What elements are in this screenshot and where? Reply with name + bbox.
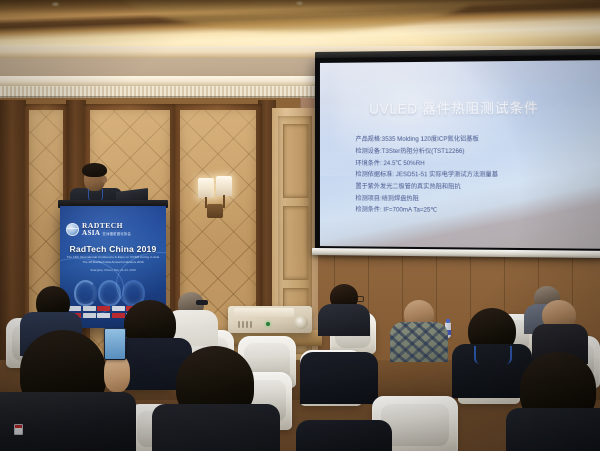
speaker-ear [102,176,107,183]
podium-event-dates: Shanghai, China | May 21-24, 2019 [60,268,166,272]
slide-body-line: 产品规格:3535 Molding 120度ICP氮化铝基板 [355,134,585,146]
sponsor-logo [97,306,110,311]
podium-mark-ring [98,280,121,306]
podium-event-subtitle-1: The 13th International Conference & Expo… [60,255,166,259]
projector-top-plate [234,308,294,317]
audience-lanyard [474,346,512,364]
projector-vent [250,321,252,328]
screen-black-border: UVLED 器件热阻测试条件 产品规格:3535 Molding 120度ICP… [315,55,600,254]
projector-vent [242,321,244,328]
audience-torso [390,322,448,362]
slide-body-line: 环境条件: 24.5℃ 50%RH [355,158,585,170]
ceiling-downlight [296,1,303,5]
sconce-backplate [207,204,223,218]
eyeglasses [352,296,364,302]
sunglasses-icon [196,300,208,305]
sponsor-logo [83,313,96,318]
slide-body-line: 置于紫外发光二极管的真实热阻和阻抗 [355,181,585,194]
mobile-phone[interactable] [104,328,126,360]
door-panel-upper [283,124,309,198]
slide-title: UVLED 器件热阻测试条件 [369,96,538,117]
podium-event-title: RadTech China 2019 [60,244,166,254]
screen-weight-bar [312,248,600,258]
sponsor-logo [112,313,125,318]
door-panel-mid [283,206,309,280]
podium-mark-ring [74,280,97,306]
projector-vent [246,321,248,328]
ceiling [0,0,600,52]
projector-lens [294,316,308,329]
audience-torso-foreground [296,420,392,451]
slide-body: 产品规格:3535 Molding 120度ICP氮化铝基板 检测设备:T3St… [355,134,585,218]
slide-body-line: 检测条件: IF=700mA Ta=25℃ [355,205,585,218]
projector-power-led [266,322,270,326]
conference-hall-photo: UVLED 器件热阻测试条件 产品规格:3535 Molding 120度ICP… [0,0,600,451]
logo-asia-chinese: 亚洲辐射固化协会 [102,231,131,236]
conference-badge [14,424,23,435]
sponsor-logo [97,313,110,318]
sconce-shade-left [198,178,214,198]
audience-torso-foreground [506,408,600,451]
wall-sconce-two-shade [196,178,236,224]
podium-logo: RADTECH ASIA 亚洲辐射固化协会 [66,222,160,237]
projection-screen: UVLED 器件热阻测试条件 产品规格:3535 Molding 120度ICP… [315,49,600,262]
podium-event-subtitle-2: The 4th RadTech Asia Annual Conference 2… [60,260,166,264]
globe-icon [66,223,79,236]
audience-torso [300,352,378,404]
audience-torso [318,304,370,336]
sponsor-logo [68,306,81,311]
phone-screen [105,329,125,359]
projector-vent [238,321,240,328]
audience-torso-foreground [0,392,136,451]
slide-surface: UVLED 器件热阻测试条件 产品规格:3535 Molding 120度ICP… [320,60,600,249]
logo-asia-text: ASIA [82,230,100,237]
projector[interactable] [228,306,312,333]
ceiling-ring-molding [120,0,480,32]
sponsor-logo [83,306,96,311]
audience-torso-foreground [152,404,280,451]
slide-body-line: 检测设备:T3Ster热阻分析仪(TST12266) [355,146,585,158]
podium-graphic-mark [74,280,145,306]
ceiling-downlight [52,2,59,6]
sponsor-logo [112,306,125,311]
slide-body-line: 检测依据标准: JESD51-51 实际电学测试方法测量基 [355,169,585,181]
speaker-hair [82,163,107,177]
sconce-shade-right [216,176,232,196]
